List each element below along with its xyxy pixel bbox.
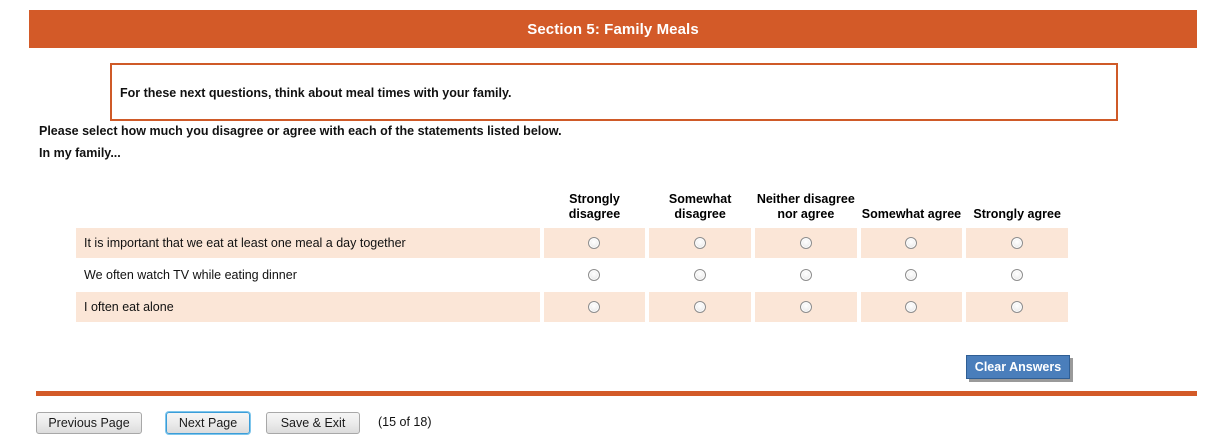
radio-button-icon[interactable] <box>800 237 812 249</box>
table-row: It is important that we eat at least one… <box>76 228 1068 258</box>
statement-label: I often eat alone <box>76 292 540 322</box>
cell-row2-col1[interactable] <box>649 292 751 322</box>
callout-text: For these next questions, think about me… <box>120 86 512 100</box>
cell-row0-col4[interactable] <box>966 228 1068 258</box>
radio-button-icon[interactable] <box>694 237 706 249</box>
cell-row2-col4[interactable] <box>966 292 1068 322</box>
clear-answers-button[interactable]: Clear Answers <box>966 355 1070 379</box>
next-page-button[interactable]: Next Page <box>166 412 250 434</box>
cell-row1-col0[interactable] <box>544 260 646 290</box>
table-row: I often eat alone <box>76 292 1068 322</box>
header-somewhat-disagree: Somewhat disagree <box>649 192 751 226</box>
radio-button-icon[interactable] <box>1011 269 1023 281</box>
radio-button-icon[interactable] <box>694 269 706 281</box>
likert-table: Strongly disagree Somewhat disagree Neit… <box>72 190 1072 324</box>
radio-button-icon[interactable] <box>1011 301 1023 313</box>
header-strongly-disagree: Strongly disagree <box>544 192 646 226</box>
header-strongly-agree: Strongly agree <box>966 192 1068 226</box>
radio-button-icon[interactable] <box>588 237 600 249</box>
page-counter: (15 of 18) <box>378 415 432 429</box>
radio-button-icon[interactable] <box>1011 237 1023 249</box>
statement-label: It is important that we eat at least one… <box>76 228 540 258</box>
footer-divider <box>36 391 1197 396</box>
cell-row0-col1[interactable] <box>649 228 751 258</box>
radio-button-icon[interactable] <box>905 237 917 249</box>
cell-row0-col3[interactable] <box>861 228 963 258</box>
cell-row1-col3[interactable] <box>861 260 963 290</box>
save-and-exit-button[interactable]: Save & Exit <box>266 412 360 434</box>
table-row: We often watch TV while eating dinner <box>76 260 1068 290</box>
cell-row2-col3[interactable] <box>861 292 963 322</box>
radio-button-icon[interactable] <box>905 269 917 281</box>
cell-row0-col2[interactable] <box>755 228 857 258</box>
survey-page: Section 5: Family Meals For these next q… <box>0 0 1211 442</box>
instruction-callout-box: For these next questions, think about me… <box>110 63 1118 121</box>
radio-button-icon[interactable] <box>588 301 600 313</box>
instruction-line-2: In my family... <box>39 146 121 160</box>
header-somewhat-agree: Somewhat agree <box>861 192 963 226</box>
radio-button-icon[interactable] <box>588 269 600 281</box>
instruction-line-1: Please select how much you disagree or a… <box>39 124 562 138</box>
likert-table-body: It is important that we eat at least one… <box>76 228 1068 322</box>
likert-header-row: Strongly disagree Somewhat disagree Neit… <box>76 192 1068 226</box>
cell-row0-col0[interactable] <box>544 228 646 258</box>
radio-button-icon[interactable] <box>800 269 812 281</box>
cell-row2-col0[interactable] <box>544 292 646 322</box>
likert-table-head: Strongly disagree Somewhat disagree Neit… <box>76 192 1068 226</box>
footer-navigation: Previous Page Next Page Save & Exit (15 … <box>0 412 1211 442</box>
radio-button-icon[interactable] <box>694 301 706 313</box>
cell-row2-col2[interactable] <box>755 292 857 322</box>
radio-button-icon[interactable] <box>905 301 917 313</box>
section-banner: Section 5: Family Meals <box>29 10 1197 48</box>
radio-button-icon[interactable] <box>800 301 812 313</box>
statement-label: We often watch TV while eating dinner <box>76 260 540 290</box>
header-statement-column <box>76 192 540 226</box>
previous-page-button[interactable]: Previous Page <box>36 412 142 434</box>
cell-row1-col1[interactable] <box>649 260 751 290</box>
header-neither-disagree-nor-agree: Neither disagree nor agree <box>755 192 857 226</box>
cell-row1-col2[interactable] <box>755 260 857 290</box>
section-title: Section 5: Family Meals <box>527 21 699 38</box>
likert-matrix: Strongly disagree Somewhat disagree Neit… <box>72 190 1072 324</box>
cell-row1-col4[interactable] <box>966 260 1068 290</box>
